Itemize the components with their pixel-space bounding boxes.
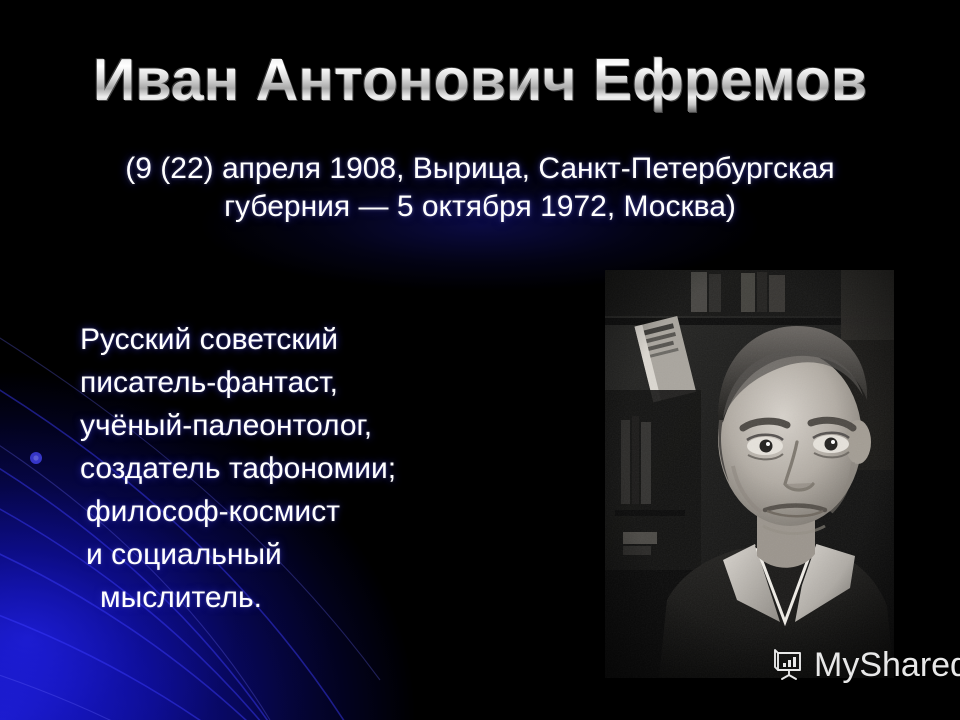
- body-line: создатель тафономии;: [80, 447, 410, 490]
- biography-text: Русский советский писатель-фантаст, учён…: [80, 318, 410, 619]
- myshared-watermark[interactable]: MyShared: [772, 648, 960, 682]
- body-line: учёный-палеонтолог,: [80, 404, 410, 447]
- presentation-slide: Иван Антонович Ефремов (9 (22) апреля 19…: [0, 0, 960, 720]
- body-line: Русский советский: [80, 318, 410, 361]
- page-title: Иван Антонович Ефремов: [0, 50, 960, 112]
- body-line: и социальный: [80, 533, 410, 576]
- presentation-chart-icon: [772, 648, 806, 682]
- body-line: философ-космист: [80, 490, 410, 533]
- portrait-photo: [605, 270, 894, 678]
- body-line: мыслитель.: [80, 576, 410, 619]
- body-line: писатель-фантаст,: [80, 361, 410, 404]
- watermark-brand-label: MyShared: [814, 648, 960, 682]
- slide-subtitle: (9 (22) апреля 1908, Вырица, Санкт-Петер…: [110, 150, 850, 226]
